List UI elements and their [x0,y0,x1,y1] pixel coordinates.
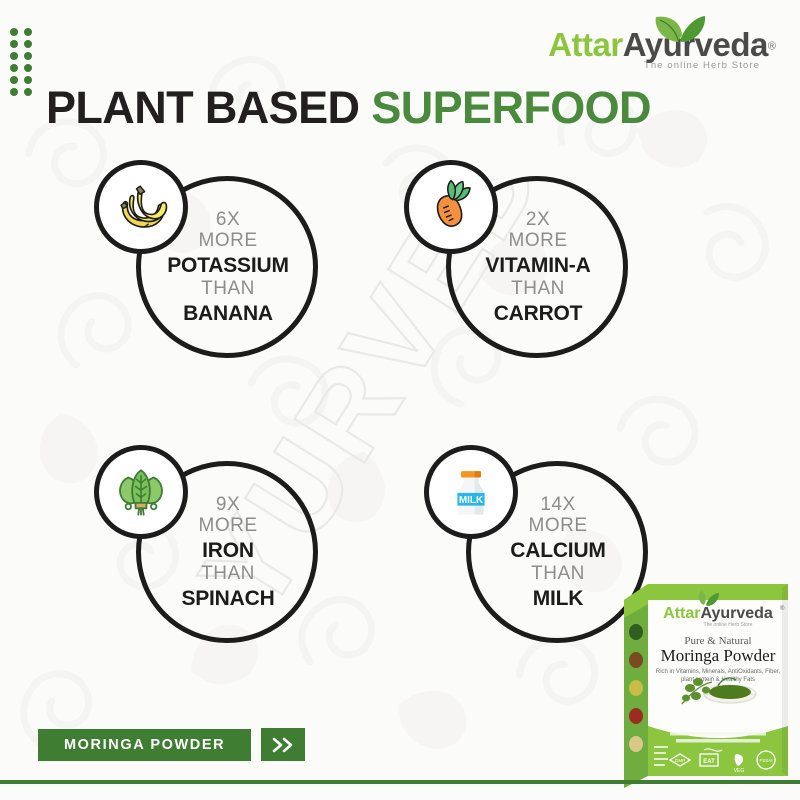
moringa-powder-button[interactable]: MORINGA POWDER [38,729,251,761]
fact-nutrient: VITAMIN-A [485,255,590,276]
svg-text:GMP: GMP [675,758,685,763]
package-brand-ayurveda: Ayurveda [701,605,773,622]
dot [10,88,18,96]
fact-multiplier: 14X [540,495,575,514]
brand-logo: AttarAyurveda® The online Herb Store [546,24,776,88]
fact-comparison: BANANA [183,303,273,324]
eat-right-label: EAT [703,759,715,765]
fact-than-label: THAN [201,564,255,583]
next-arrow-button[interactable] [261,728,305,761]
dot [10,52,18,60]
milk-bottle-icon: MILK [442,463,500,521]
banana-icon [112,178,170,236]
package-product-title: Moringa Powder [661,646,776,665]
fact-multiplier: 6X [216,210,240,229]
fact-comparison: CARROT [494,303,583,324]
headline-part-plant-based: PLANT BASED [46,82,359,133]
fact-nutrient: POTASSIUM [167,255,288,276]
fact-icon-circle [404,160,498,254]
dot [10,40,18,48]
dot [24,28,32,36]
dot [24,76,32,84]
fact-nutrient: CALCIUM [510,540,605,561]
logo-text-attar: Attar [548,26,623,63]
fact-comparison: MILK [533,588,584,609]
cta-bar: MORINGA POWDER [38,728,305,761]
dot [24,88,32,96]
package-brand-tagline: The online Herb Store [704,622,753,628]
fact-than-label: THAN [511,279,565,298]
fact-more-label: MORE [529,516,588,535]
fact-icon-circle [94,445,188,539]
package-description-line2: plant protein & Healthy Fats [681,677,755,683]
fact-badge-iron: 9X MORE IRON THAN SPINACH [94,445,326,655]
fact-comparison: SPINACH [181,588,274,609]
fact-more-label: MORE [199,231,258,250]
milk-label: MILK [459,495,484,506]
dot [10,64,18,72]
fact-icon-circle: MILK [424,445,518,539]
bottom-rule [0,780,800,784]
leaf-icon [654,15,706,43]
carrot-icon [422,178,480,236]
fact-than-label: THAN [531,564,585,583]
fact-icon-circle [94,160,188,254]
svg-text:FSSAI: FSSAI [759,758,772,763]
dot [24,64,32,72]
double-chevron-right-icon [270,736,296,754]
page-title: PLANT BASED SUPERFOOD [46,82,651,134]
package-brand-attar: Attar [663,605,700,622]
fact-multiplier: 9X [216,495,240,514]
dot [10,28,18,36]
fact-more-label: MORE [509,231,568,250]
spinach-icon [112,463,170,521]
dot-grid-decoration [10,28,38,100]
dot [24,52,32,60]
fact-more-label: MORE [199,516,258,535]
package-description-line1: Rich in Vitamins, Minerals, AntiOxidants… [656,669,781,675]
registered-mark: ® [768,41,776,53]
product-package-image: Attar Ayurveda ® The online Herb Store P… [618,560,794,798]
dot [10,76,18,84]
headline-part-superfood: SUPERFOOD [371,82,651,133]
fact-multiplier: 2X [526,210,550,229]
fact-nutrient: IRON [202,540,254,561]
infographic-canvas: AYURVEDA AttarAyurveda® The online Herb … [0,0,800,800]
fact-badge-potassium: 6X MORE POTASSIUM THAN BANANA [94,160,326,370]
fact-than-label: THAN [201,279,255,298]
dot [24,40,32,48]
fact-badge-vitamin-a: 2X MORE VITAMIN-A THAN CARROT [404,160,636,370]
veg-label: VEG [734,768,745,774]
